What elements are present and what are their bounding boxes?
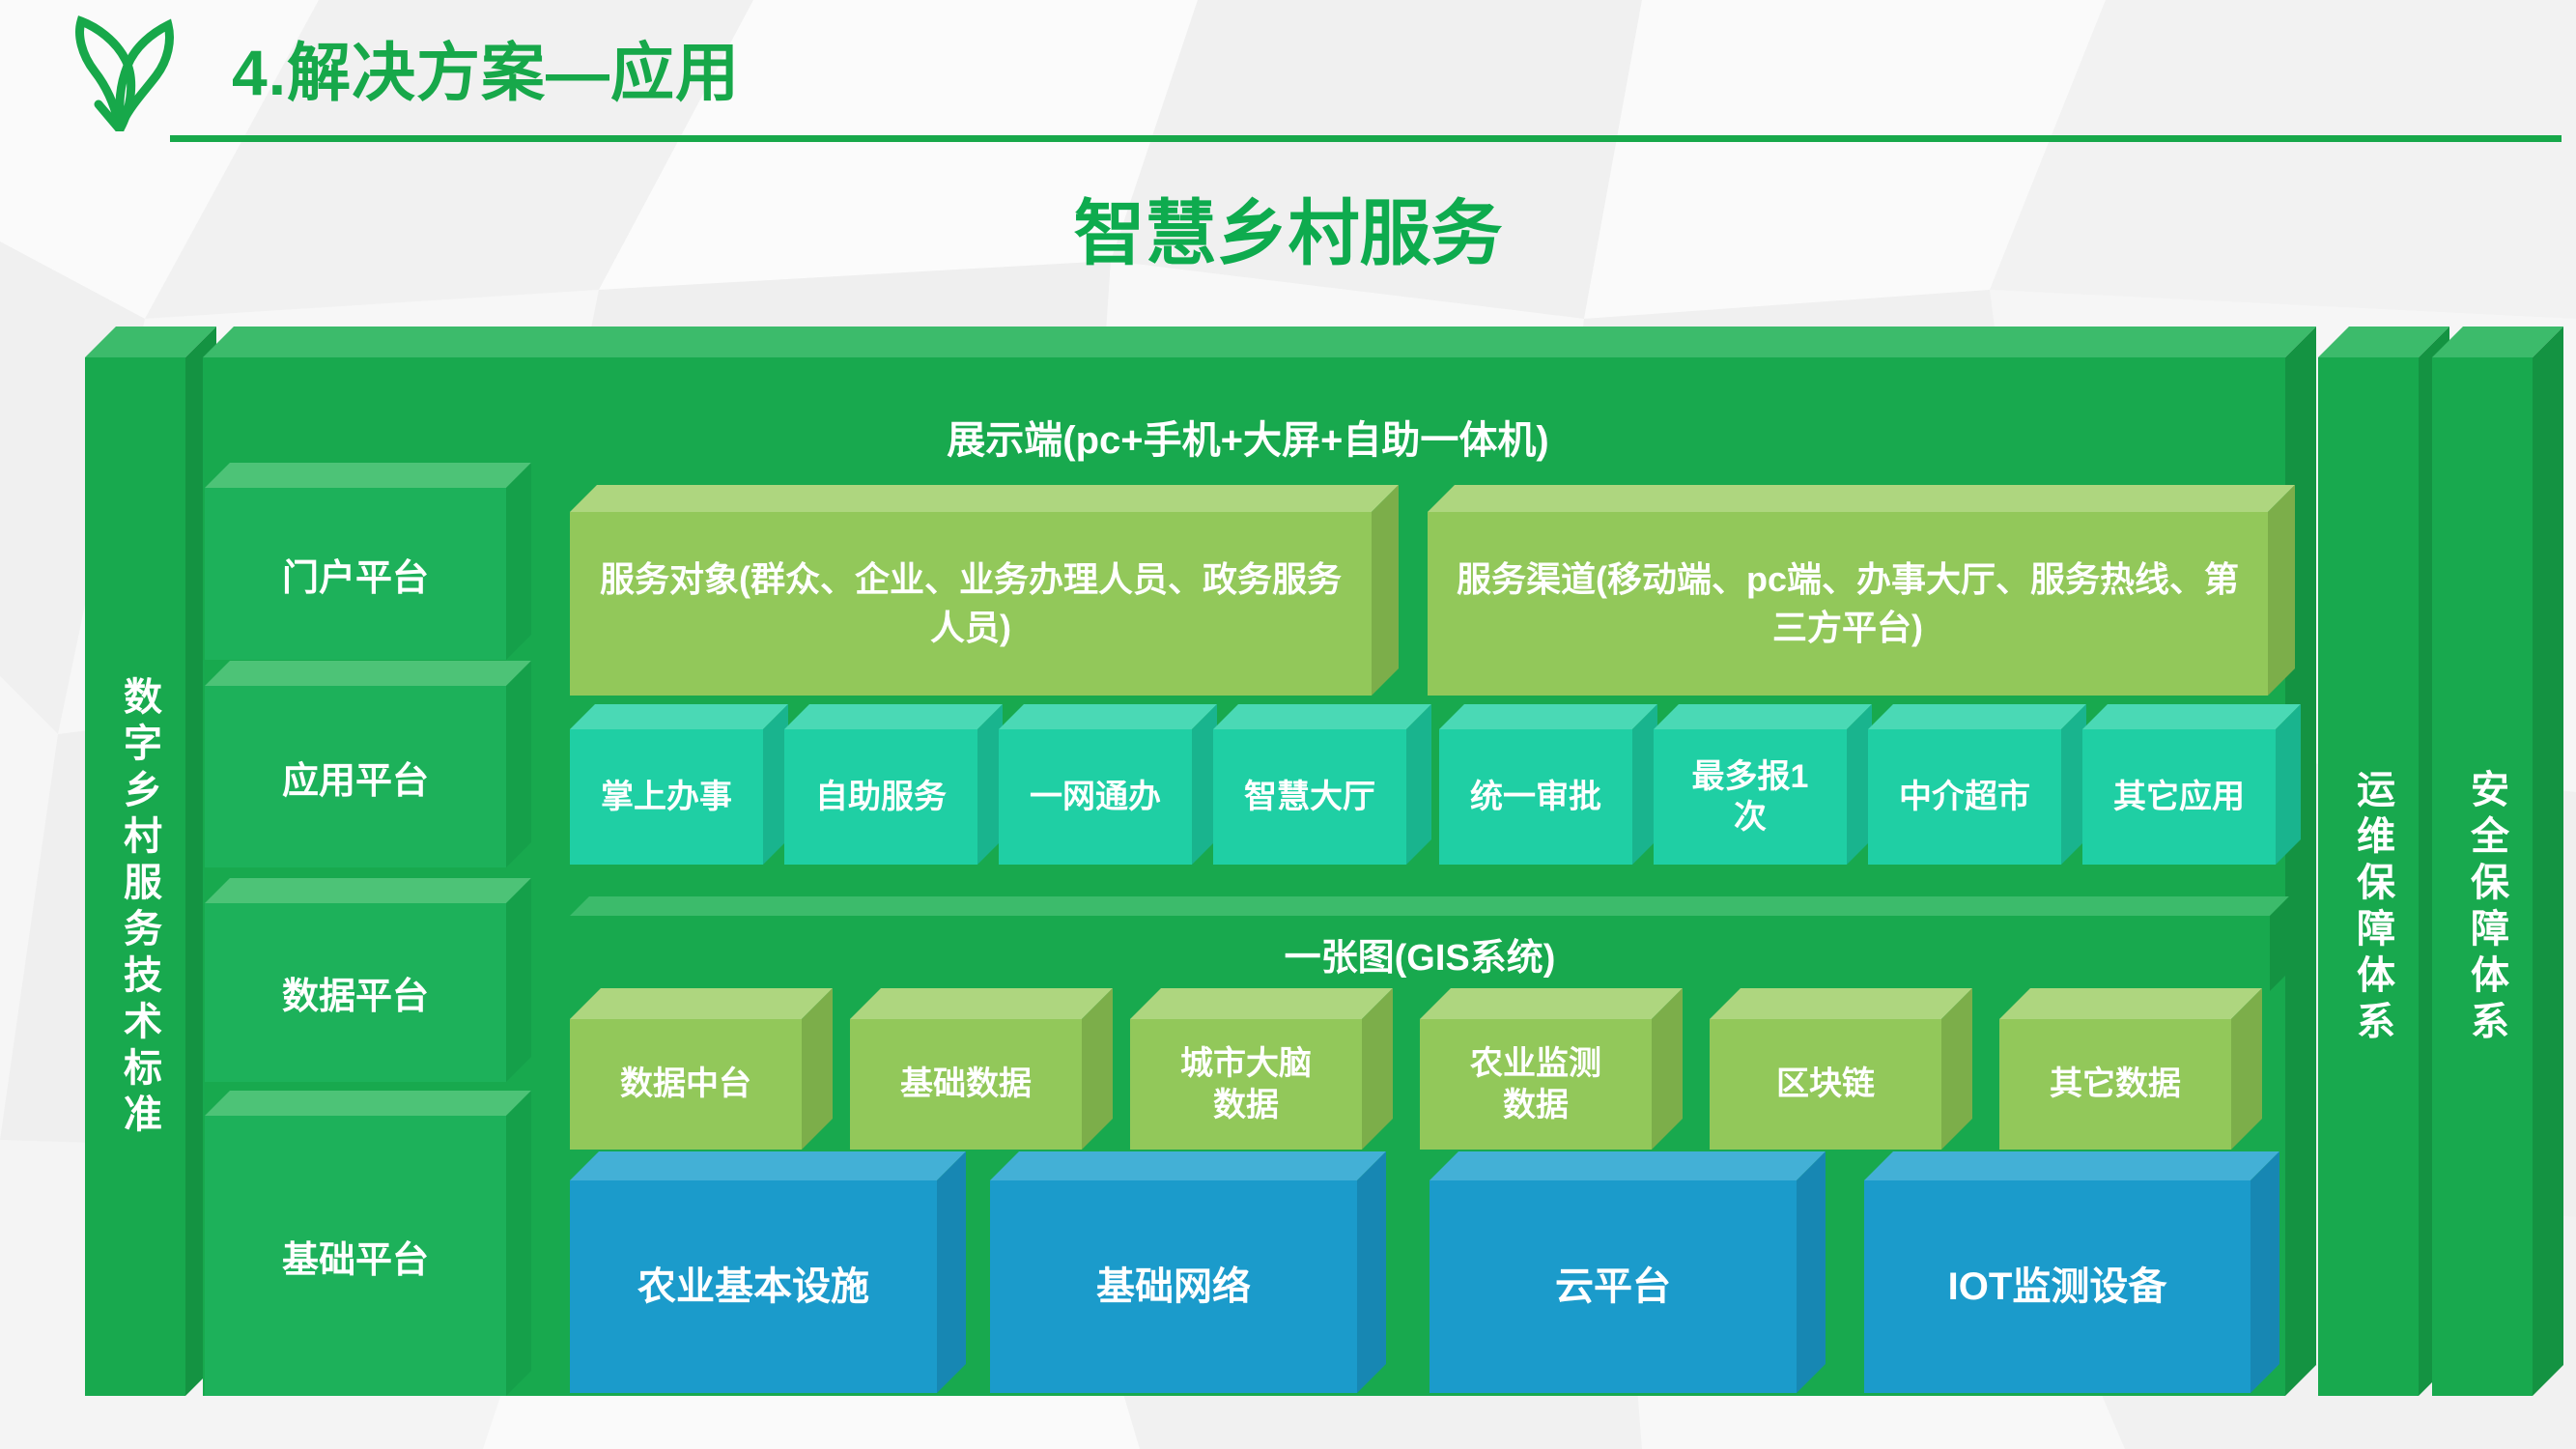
tier-box-application[interactable]: 应用平台 — [205, 686, 506, 867]
display-bar-label: 展示端(pc+手机+大屏+自助一体机) — [207, 388, 2289, 485]
data-label-1: 数据中台 — [570, 1019, 802, 1150]
gis-bar[interactable]: 一张图(GIS系统) — [570, 916, 2270, 991]
app-box-5[interactable]: 统一审批 — [1439, 729, 1632, 865]
app-label-5: 统一审批 — [1439, 729, 1632, 865]
infra-box-4[interactable]: IOT监测设备 — [1864, 1180, 2250, 1393]
left-pillar-standards[interactable]: 数字乡村服务技术标准 — [85, 357, 178, 1396]
infra-box-2[interactable]: 基础网络 — [990, 1180, 1357, 1393]
data-box-1[interactable]: 数据中台 — [570, 1019, 802, 1150]
page-header: 4.解决方案—应用 — [0, 0, 2576, 155]
infra-label-3: 云平台 — [1430, 1180, 1797, 1393]
data-label-6: 其它数据 — [1999, 1019, 2231, 1150]
app-label-2: 自助服务 — [784, 729, 977, 865]
data-label-2: 基础数据 — [850, 1019, 1082, 1150]
data-box-4[interactable]: 农业监测数据 — [1420, 1019, 1652, 1150]
data-box-5[interactable]: 区块链 — [1710, 1019, 1941, 1150]
data-label-3: 城市大脑数据 — [1130, 1019, 1362, 1150]
app-box-6[interactable]: 最多报1次 — [1654, 729, 1847, 865]
gis-bar-label: 一张图(GIS系统) — [570, 916, 2270, 991]
app-box-4[interactable]: 智慧大厅 — [1213, 729, 1406, 865]
app-label-8: 其它应用 — [2082, 729, 2276, 865]
portal-label-service-objects: 服务对象(群众、企业、业务办理人员、政务服务人员) — [570, 512, 1372, 696]
infra-label-2: 基础网络 — [990, 1180, 1357, 1393]
page-title: 4.解决方案—应用 — [232, 21, 740, 114]
data-label-5: 区块链 — [1710, 1019, 1941, 1150]
diagram-title: 智慧乡村服务 — [0, 176, 2576, 279]
tier-box-data[interactable]: 数据平台 — [205, 903, 506, 1082]
portal-box-service-objects[interactable]: 服务对象(群众、企业、业务办理人员、政务服务人员) — [570, 512, 1372, 696]
app-label-3: 一网通办 — [999, 729, 1192, 865]
tier-label-data: 数据平台 — [205, 903, 506, 1082]
tier-label-infrastructure: 基础平台 — [205, 1116, 506, 1396]
tier-box-portal[interactable]: 门户平台 — [205, 488, 506, 660]
app-label-6: 最多报1次 — [1654, 729, 1847, 865]
right-pillar-security-label: 安全保障体系 — [2436, 388, 2536, 1427]
data-box-3[interactable]: 城市大脑数据 — [1130, 1019, 1362, 1150]
right-pillar-operations[interactable]: 运维保障体系 — [2318, 357, 2411, 1396]
left-pillar-label: 数字乡村服务技术标准 — [89, 388, 189, 1427]
data-label-4: 农业监测数据 — [1420, 1019, 1652, 1150]
portal-box-service-channels[interactable]: 服务渠道(移动端、pc端、办事大厅、服务热线、第三方平台) — [1428, 512, 2268, 696]
right-pillar-security[interactable]: 安全保障体系 — [2432, 357, 2525, 1396]
app-box-7[interactable]: 中介超市 — [1868, 729, 2061, 865]
app-label-1: 掌上办事 — [570, 729, 763, 865]
tier-label-portal: 门户平台 — [205, 488, 506, 660]
right-pillar-operations-label: 运维保障体系 — [2322, 388, 2422, 1427]
infra-box-3[interactable]: 云平台 — [1430, 1180, 1797, 1393]
portal-label-service-channels: 服务渠道(移动端、pc端、办事大厅、服务热线、第三方平台) — [1428, 512, 2268, 696]
app-box-2[interactable]: 自助服务 — [784, 729, 977, 865]
app-label-7: 中介超市 — [1868, 729, 2061, 865]
header-divider — [170, 135, 2562, 142]
data-box-2[interactable]: 基础数据 — [850, 1019, 1082, 1150]
tier-box-infrastructure[interactable]: 基础平台 — [205, 1116, 506, 1396]
app-label-4: 智慧大厅 — [1213, 729, 1406, 865]
infra-label-4: IOT监测设备 — [1864, 1180, 2250, 1393]
app-box-3[interactable]: 一网通办 — [999, 729, 1192, 865]
app-box-1[interactable]: 掌上办事 — [570, 729, 763, 865]
data-box-6[interactable]: 其它数据 — [1999, 1019, 2231, 1150]
app-box-8[interactable]: 其它应用 — [2082, 729, 2276, 865]
infra-box-1[interactable]: 农业基本设施 — [570, 1180, 937, 1393]
infra-label-1: 农业基本设施 — [570, 1180, 937, 1393]
leaf-icon — [64, 15, 180, 131]
tier-label-application: 应用平台 — [205, 686, 506, 867]
